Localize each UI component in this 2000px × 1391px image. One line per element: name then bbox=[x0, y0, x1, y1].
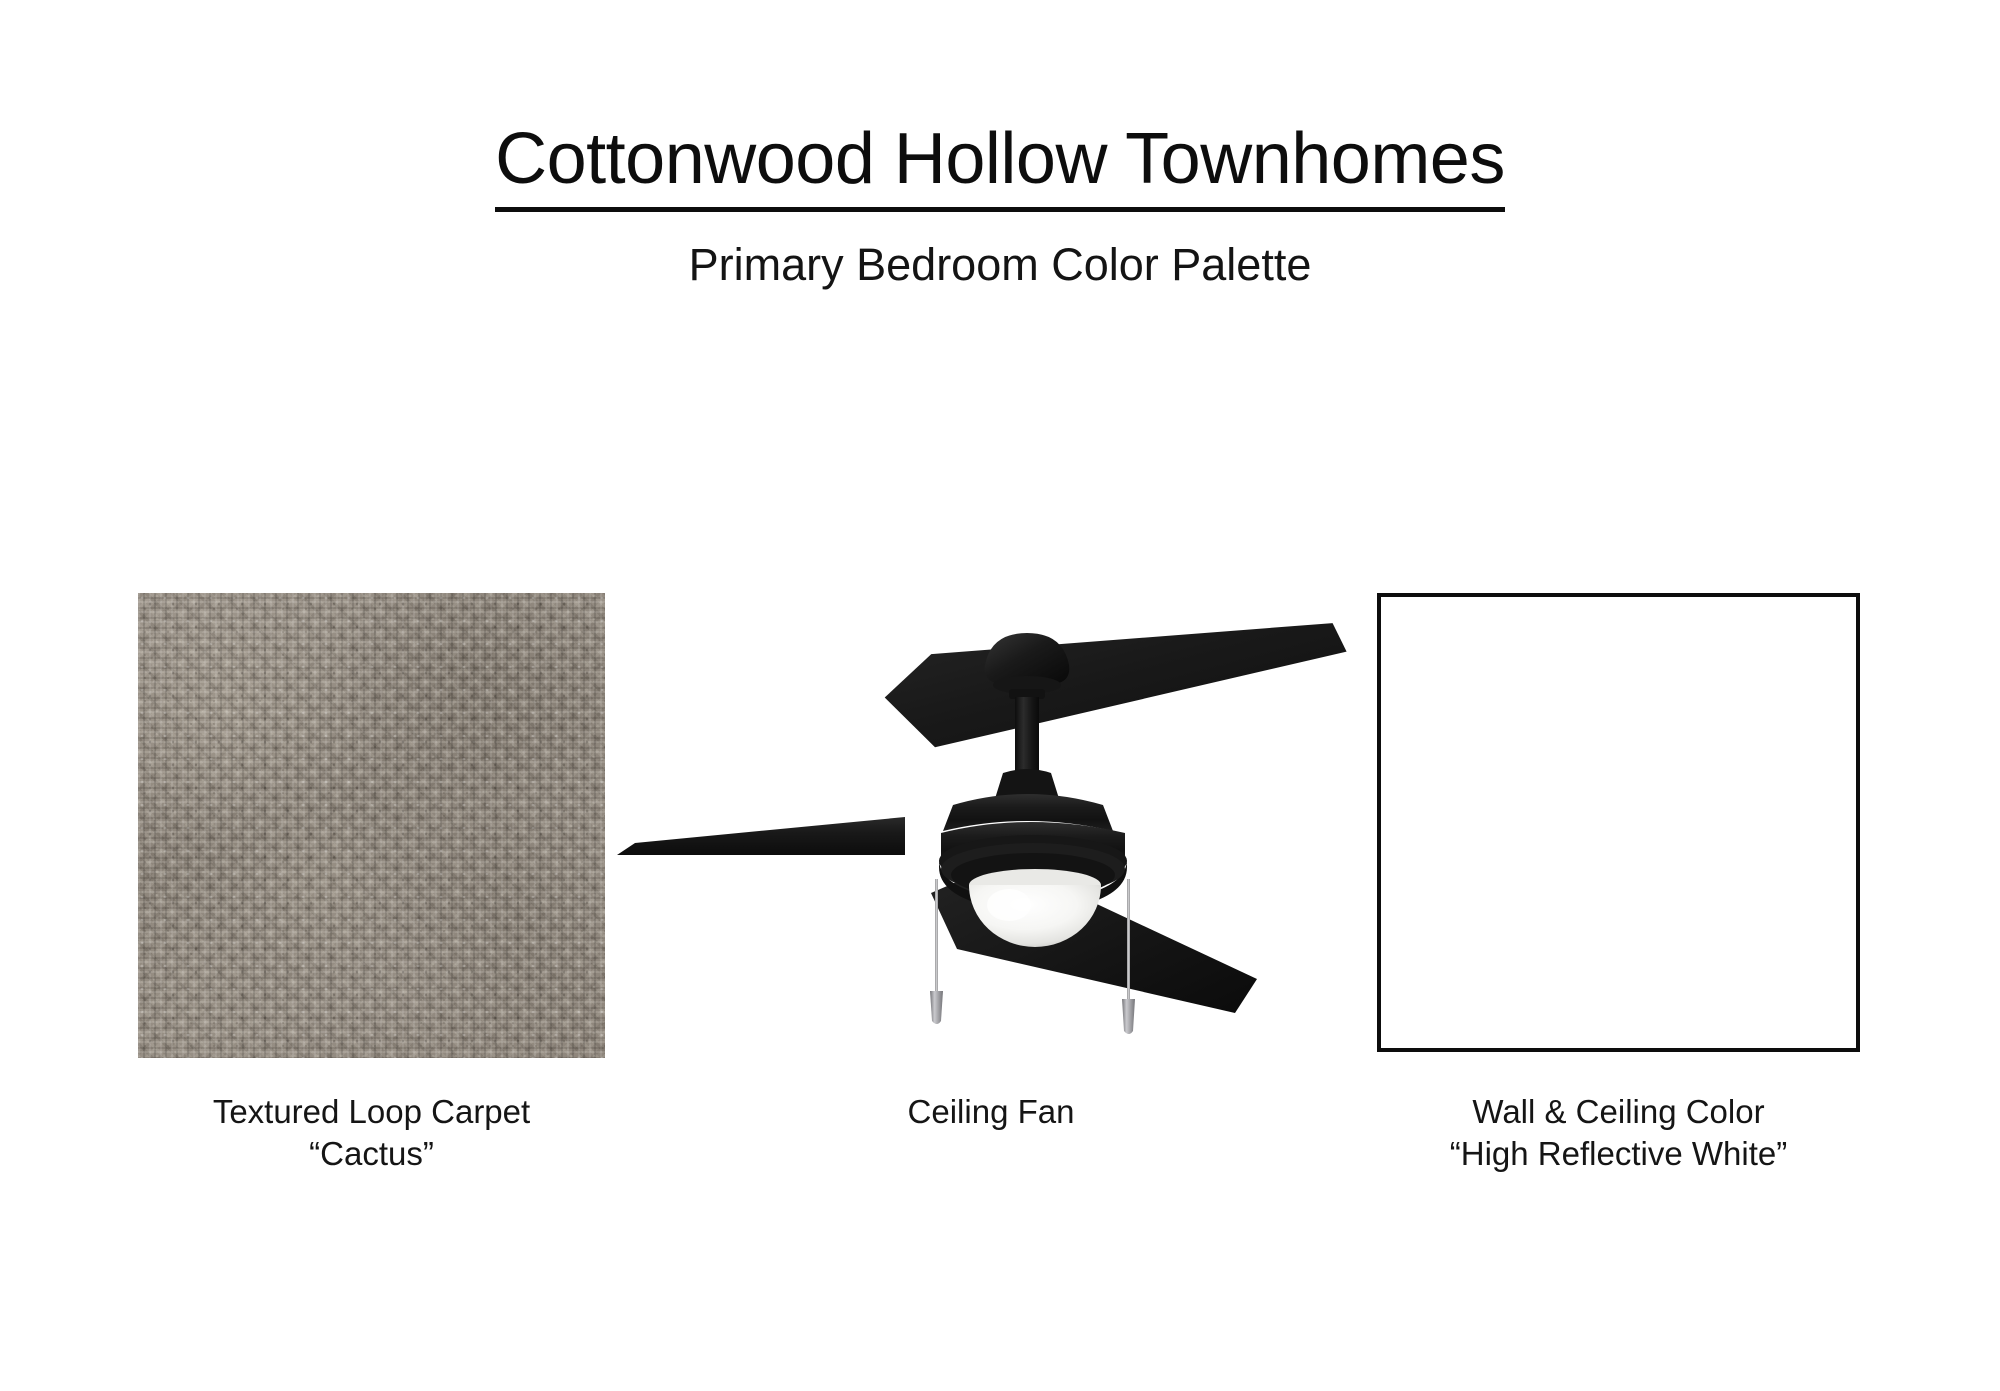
ceiling-fan-illustration bbox=[605, 593, 1377, 1058]
ceiling-fan-caption-line-1: Ceiling Fan bbox=[908, 1091, 1075, 1133]
ceiling-fan-caption: Ceiling Fan bbox=[908, 1091, 1075, 1133]
header: Cottonwood Hollow Townhomes Primary Bedr… bbox=[0, 120, 2000, 290]
page-title: Cottonwood Hollow Townhomes bbox=[495, 120, 1505, 212]
carpet-swatch-icon bbox=[138, 593, 605, 1058]
ceiling-fan-icon bbox=[605, 593, 1377, 1058]
fan-blade-left bbox=[617, 817, 905, 855]
fan-blade-upper-right bbox=[883, 608, 1348, 762]
palette-row: Textured Loop Carpet “Cactus” bbox=[0, 593, 2000, 1253]
palette-item-ceiling-fan: Ceiling Fan bbox=[605, 593, 1377, 1058]
paint-swatch-icon bbox=[1377, 593, 1860, 1052]
wall-color-caption-line-2: “High Reflective White” bbox=[1450, 1133, 1787, 1175]
wall-color-caption: Wall & Ceiling Color “High Reflective Wh… bbox=[1450, 1091, 1787, 1175]
wall-color-caption-line-1: Wall & Ceiling Color bbox=[1450, 1091, 1787, 1133]
carpet-caption-line-1: Textured Loop Carpet bbox=[213, 1091, 530, 1133]
carpet-caption-line-2: “Cactus” bbox=[213, 1133, 530, 1175]
palette-item-wall-color: Wall & Ceiling Color “High Reflective Wh… bbox=[1377, 593, 1860, 1052]
palette-item-carpet: Textured Loop Carpet “Cactus” bbox=[138, 593, 605, 1058]
page-subtitle: Primary Bedroom Color Palette bbox=[0, 240, 2000, 290]
carpet-caption: Textured Loop Carpet “Cactus” bbox=[213, 1091, 530, 1175]
fan-canopy bbox=[985, 633, 1070, 699]
